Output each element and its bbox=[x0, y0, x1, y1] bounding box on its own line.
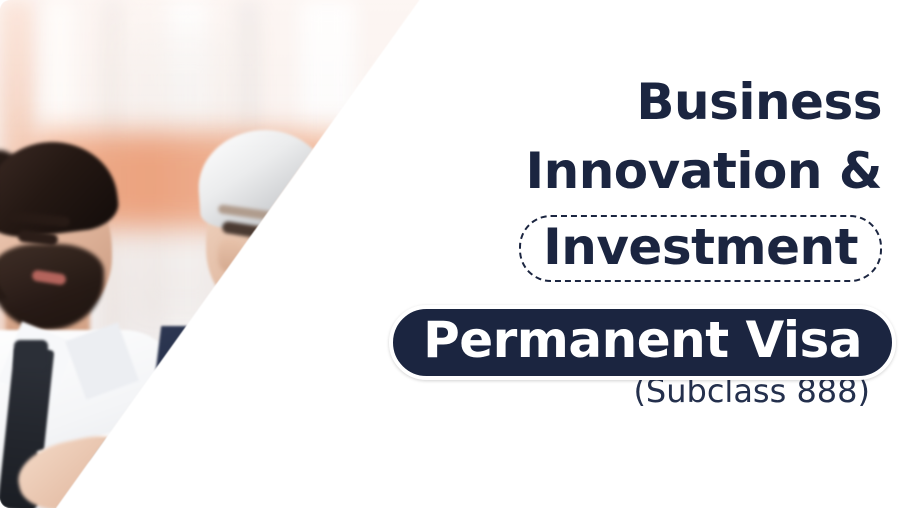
senior-man-pointing-finger bbox=[195, 425, 291, 457]
permanent-visa-pill: Permanent Visa bbox=[389, 305, 896, 380]
headline-line-business: Business bbox=[322, 76, 882, 129]
headline-line-investment: Investment bbox=[543, 221, 858, 274]
senior-man-lapel-left bbox=[234, 328, 294, 465]
senior-man-striped-tie bbox=[221, 336, 282, 508]
senior-man-neck bbox=[222, 296, 312, 360]
headline-line-innovation: Innovation & bbox=[322, 145, 882, 198]
young-man-tie-knot bbox=[14, 340, 48, 370]
senior-man-hand bbox=[176, 403, 320, 508]
senior-man-lapel-right bbox=[283, 328, 346, 471]
headline-line-permanent-visa: Permanent Visa bbox=[423, 314, 862, 367]
window-band-5 bbox=[238, 0, 258, 508]
woman-jacket bbox=[382, 372, 491, 508]
tablet-screen bbox=[118, 419, 312, 508]
senior-man-suit-left bbox=[139, 326, 281, 508]
senior-man-pocket-square bbox=[287, 365, 381, 404]
senior-man-shirt bbox=[198, 320, 338, 508]
senior-man-lip bbox=[225, 271, 266, 290]
visa-banner: Business Innovation & Investment Permane… bbox=[0, 0, 902, 508]
investment-dashed-box: Investment bbox=[519, 215, 882, 282]
senior-man-nose bbox=[218, 238, 244, 272]
headline-block: Business Innovation & Investment bbox=[322, 76, 882, 282]
